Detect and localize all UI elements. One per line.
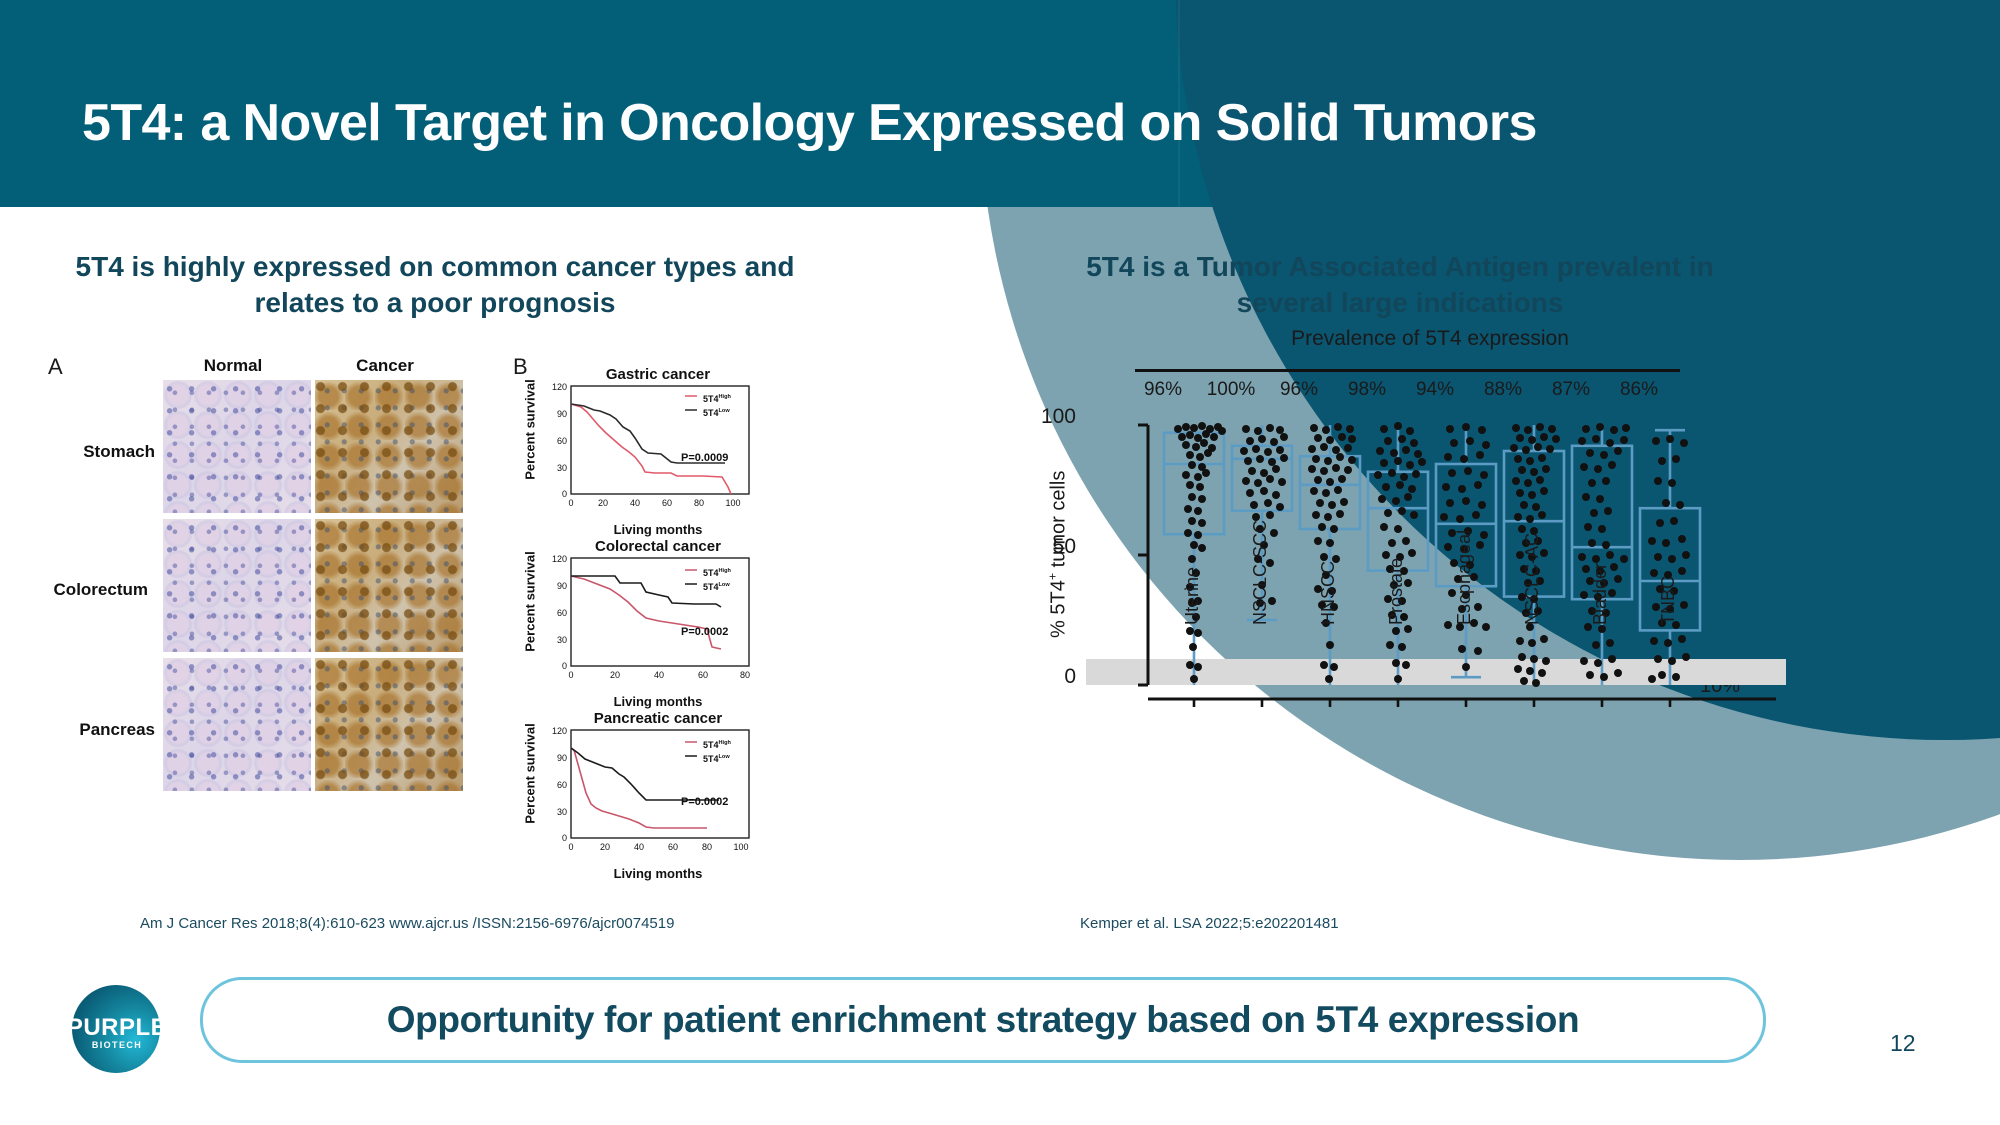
svg-text:60: 60: [668, 842, 678, 852]
boxplot-ytick-100: 100: [1016, 405, 1076, 429]
boxplot-xlabel-bladder: Bladder: [1590, 455, 1611, 625]
svg-text:120: 120: [552, 382, 567, 392]
left-figure: A B Normal Cancer Stomach Colorectum Pan…: [45, 352, 785, 897]
svg-text:90: 90: [557, 753, 567, 763]
prevalence-pct-uterine: 96%: [1128, 379, 1198, 401]
boxplot-xlabel-uterine: Uterine: [1182, 455, 1203, 625]
svg-text:30: 30: [557, 463, 567, 473]
svg-text:0: 0: [562, 489, 567, 499]
km-pancreatic-title: Pancreatic cancer: [543, 710, 773, 727]
svg-text:60: 60: [557, 780, 567, 790]
ihc-tile-stomach-cancer: [315, 380, 463, 513]
ihc-tile-pancreas-normal: [163, 658, 311, 791]
logo-wordmark: PURPLE: [52, 1014, 182, 1042]
svg-text:0: 0: [568, 670, 573, 680]
km-gastric-pvalue: P=0.0009: [681, 452, 728, 464]
svg-text:0: 0: [562, 833, 567, 843]
ihc-tile-stomach-normal: [163, 380, 311, 513]
svg-text:40: 40: [634, 842, 644, 852]
km-colorectal-legend-high: 5T4High: [703, 568, 731, 578]
svg-text:0: 0: [562, 661, 567, 671]
km-pancreatic-legend-low: 5T4Low: [703, 754, 730, 764]
svg-text:90: 90: [557, 409, 567, 419]
right-column-heading: 5T4 is a Tumor Associated Antigen preval…: [1060, 249, 1740, 321]
ihc-column-header-cancer: Cancer: [310, 356, 460, 376]
svg-text:80: 80: [694, 498, 704, 508]
km-colorectal-title: Colorectal cancer: [543, 538, 773, 555]
ihc-tile-colorectum-cancer: [315, 519, 463, 652]
prevalence-figure: Prevalence of 5T4 expression 96% 100% 96…: [1000, 327, 1760, 887]
slide-number: 12: [1890, 1030, 1916, 1057]
svg-text:60: 60: [557, 608, 567, 618]
key-message-text: Opportunity for patient enrichment strat…: [387, 999, 1579, 1041]
svg-text:20: 20: [598, 498, 608, 508]
svg-text:0: 0: [568, 842, 573, 852]
logo-subtext: BIOTECH: [52, 1040, 182, 1050]
svg-text:40: 40: [654, 670, 664, 680]
svg-text:30: 30: [557, 807, 567, 817]
prevalence-pct-tnbc: 86%: [1604, 379, 1674, 401]
ihc-tile-pancreas-cancer: [315, 658, 463, 791]
km-gastric-title: Gastric cancer: [543, 366, 773, 383]
prevalence-pct-esophageal: 94%: [1400, 379, 1470, 401]
boxplot-top-rule: [1135, 369, 1680, 372]
ihc-row-label-pancreas: Pancreas: [40, 720, 155, 740]
km-pancreatic-pvalue: P=0.0002: [681, 796, 728, 808]
km-gastric-legend-high: 5T4High: [703, 394, 731, 404]
ihc-tile-colorectum-normal: [163, 519, 311, 652]
prevalence-pct-hnscc: 96%: [1264, 379, 1334, 401]
svg-text:60: 60: [662, 498, 672, 508]
boxplot-xlabel-nsclc-ac: NSCLC-AC: [1522, 455, 1543, 625]
panel-a-letter: A: [48, 354, 63, 380]
left-column-heading: 5T4 is highly expressed on common cancer…: [55, 249, 815, 321]
svg-text:40: 40: [630, 498, 640, 508]
km-pancreatic-legend-high: 5T4High: [703, 740, 731, 750]
boxplot-xlabel-hnscc: HNSCC: [1318, 455, 1339, 625]
km-chart-pancreatic: Pancreatic cancer Percent survival Livin…: [513, 710, 773, 878]
svg-text:60: 60: [698, 670, 708, 680]
prevalence-pct-nsclc-scc: 100%: [1196, 379, 1266, 401]
km-colorectal-legend-low: 5T4Low: [703, 582, 730, 592]
svg-text:60: 60: [557, 436, 567, 446]
page-title: 5T4: a Novel Target in Oncology Expresse…: [82, 95, 1882, 152]
prevalence-pct-nsclc-ac: 88%: [1468, 379, 1538, 401]
left-citation: Am J Cancer Res 2018;8(4):610-623 www.aj…: [140, 915, 674, 932]
svg-text:90: 90: [557, 581, 567, 591]
boxplot-ytick-50: 50: [1016, 535, 1076, 559]
km-gastric-xlabel: Living months: [553, 522, 763, 537]
ihc-column-header-normal: Normal: [158, 356, 308, 376]
km-colorectal-pvalue: P=0.0002: [681, 626, 728, 638]
key-message-banner: Opportunity for patient enrichment strat…: [200, 977, 1766, 1063]
svg-text:100: 100: [725, 498, 740, 508]
km-chart-gastric: Gastric cancer Percent survival Living m…: [513, 366, 773, 534]
km-colorectal-plot: 12090 60300 02040 6080: [535, 554, 771, 694]
prevalence-pct-prostate: 98%: [1332, 379, 1402, 401]
svg-text:120: 120: [552, 726, 567, 736]
svg-text:30: 30: [557, 635, 567, 645]
boxplot-xlabel-esophageal: Esophageal: [1454, 455, 1475, 625]
boxplot-ytick-0: 0: [1016, 665, 1076, 689]
svg-text:20: 20: [610, 670, 620, 680]
km-pancreatic-plot: 12090 60300 02040 6080100: [535, 726, 771, 866]
km-chart-colorectal: Colorectal cancer Percent survival Livin…: [513, 538, 773, 706]
right-citation: Kemper et al. LSA 2022;5:e202201481: [1080, 915, 1339, 932]
km-pancreatic-xlabel: Living months: [553, 866, 763, 881]
boxplot-title: Prevalence of 5T4 expression: [1120, 327, 1740, 351]
svg-text:0: 0: [568, 498, 573, 508]
prevalence-pct-bladder: 87%: [1536, 379, 1606, 401]
svg-text:100: 100: [733, 842, 748, 852]
km-gastric-plot: 12090 60300 02040 6080100: [535, 382, 771, 522]
km-colorectal-xlabel: Living months: [553, 694, 763, 709]
svg-text:20: 20: [600, 842, 610, 852]
svg-text:80: 80: [702, 842, 712, 852]
boxplot-xlabel-tnbc: TNBC: [1658, 455, 1679, 625]
boxplot-xlabel-prostate: Prostate: [1386, 455, 1407, 625]
svg-text:120: 120: [552, 554, 567, 564]
km-gastric-legend-low: 5T4Low: [703, 408, 730, 418]
svg-text:80: 80: [740, 670, 750, 680]
ihc-row-label-colorectum: Colorectum: [33, 580, 148, 600]
ihc-row-label-stomach: Stomach: [40, 442, 155, 462]
boxplot-xlabel-nsclc-scc: NSCLC-SCC: [1250, 455, 1271, 625]
